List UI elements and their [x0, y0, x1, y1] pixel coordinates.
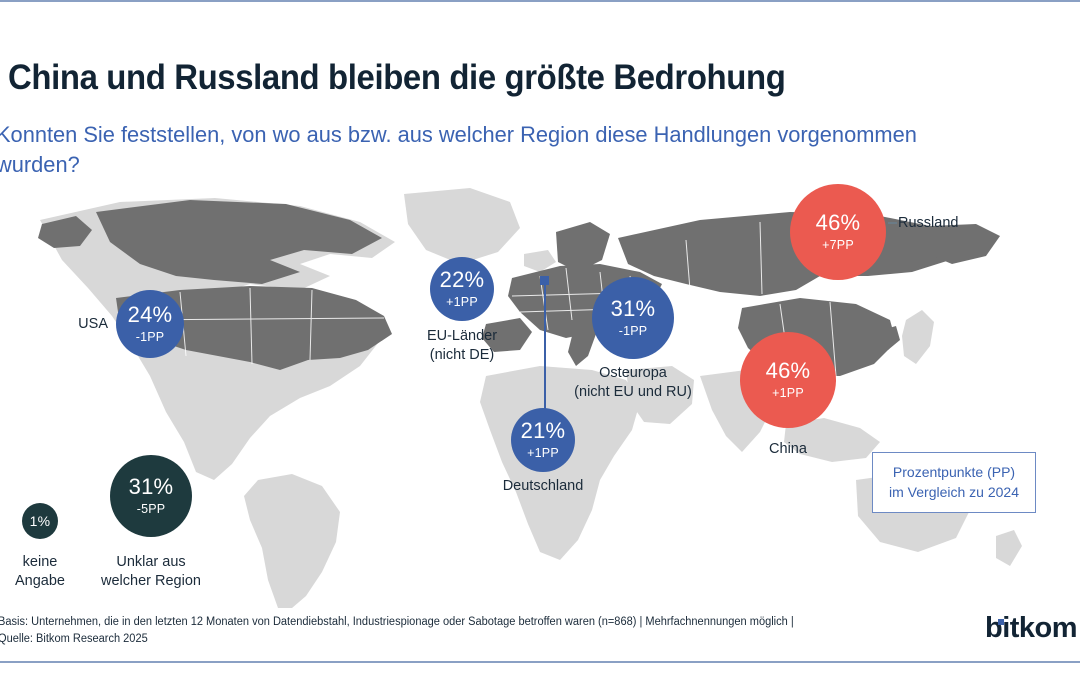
bubble-eu-laender[interactable]: 22% +1PP: [430, 257, 494, 321]
label-osteuropa: Osteuropa (nicht EU und RU): [553, 364, 713, 402]
source-note: Basis: Unternehmen, die in den letzten 1…: [0, 614, 862, 648]
bubble-keine-angabe-value: 1%: [30, 514, 51, 528]
bubble-eu-laender-value: 22%: [440, 269, 485, 291]
bubble-unklar-value: 31%: [129, 476, 174, 498]
bubble-usa[interactable]: 24% -1PP: [116, 290, 184, 358]
page-title: China und Russland bleiben die größte Be…: [8, 58, 948, 98]
label-eu-laender: EU-Länder (nicht DE): [392, 327, 532, 365]
label-deutschland: Deutschland: [483, 477, 603, 496]
label-russland: Russland: [898, 214, 1018, 233]
bubble-usa-delta: -1PP: [136, 331, 165, 344]
bubble-russland[interactable]: 46% +7PP: [790, 184, 886, 280]
label-unklar: Unklar aus welcher Region: [91, 553, 211, 591]
bubble-usa-value: 24%: [128, 304, 173, 326]
russland-leader-dash: [888, 222, 897, 224]
bubble-osteuropa-value: 31%: [611, 298, 656, 320]
bubble-unklar-delta: -5PP: [137, 503, 166, 516]
bubble-china-delta: +1PP: [772, 387, 804, 400]
bottom-rule: [0, 661, 1080, 663]
top-rule: [0, 0, 1080, 2]
label-keine-angabe: keine Angabe: [0, 553, 80, 591]
germany-connector-line: [544, 284, 546, 414]
bubble-unklar[interactable]: 31% -5PP: [110, 455, 192, 537]
infographic-canvas: China und Russland bleiben die größte Be…: [0, 0, 1080, 675]
bubble-deutschland-delta: +1PP: [527, 447, 559, 460]
bitkom-logo: bitkom: [985, 612, 1077, 645]
world-map: [0, 180, 1080, 610]
bubble-russland-value: 46%: [816, 212, 861, 234]
label-usa: USA: [28, 315, 108, 334]
bubble-keine-angabe[interactable]: 1%: [22, 503, 58, 539]
bubble-china[interactable]: 46% +1PP: [740, 332, 836, 428]
legend-box: Prozentpunkte (PP) im Vergleich zu 2024: [872, 452, 1036, 513]
logo-dot-icon: [998, 619, 1004, 625]
bubble-deutschland-value: 21%: [521, 420, 566, 442]
bubble-osteuropa[interactable]: 31% -1PP: [592, 277, 674, 359]
page-subtitle: Konnten Sie feststellen, von wo aus bzw.…: [0, 120, 976, 180]
bubble-osteuropa-delta: -1PP: [619, 325, 648, 338]
bubble-eu-laender-delta: +1PP: [446, 296, 478, 309]
logo-text: bitkom: [985, 612, 1077, 644]
bubble-deutschland[interactable]: 21% +1PP: [511, 408, 575, 472]
label-china: China: [728, 440, 848, 459]
bubble-china-value: 46%: [766, 360, 811, 382]
bubble-russland-delta: +7PP: [822, 239, 854, 252]
